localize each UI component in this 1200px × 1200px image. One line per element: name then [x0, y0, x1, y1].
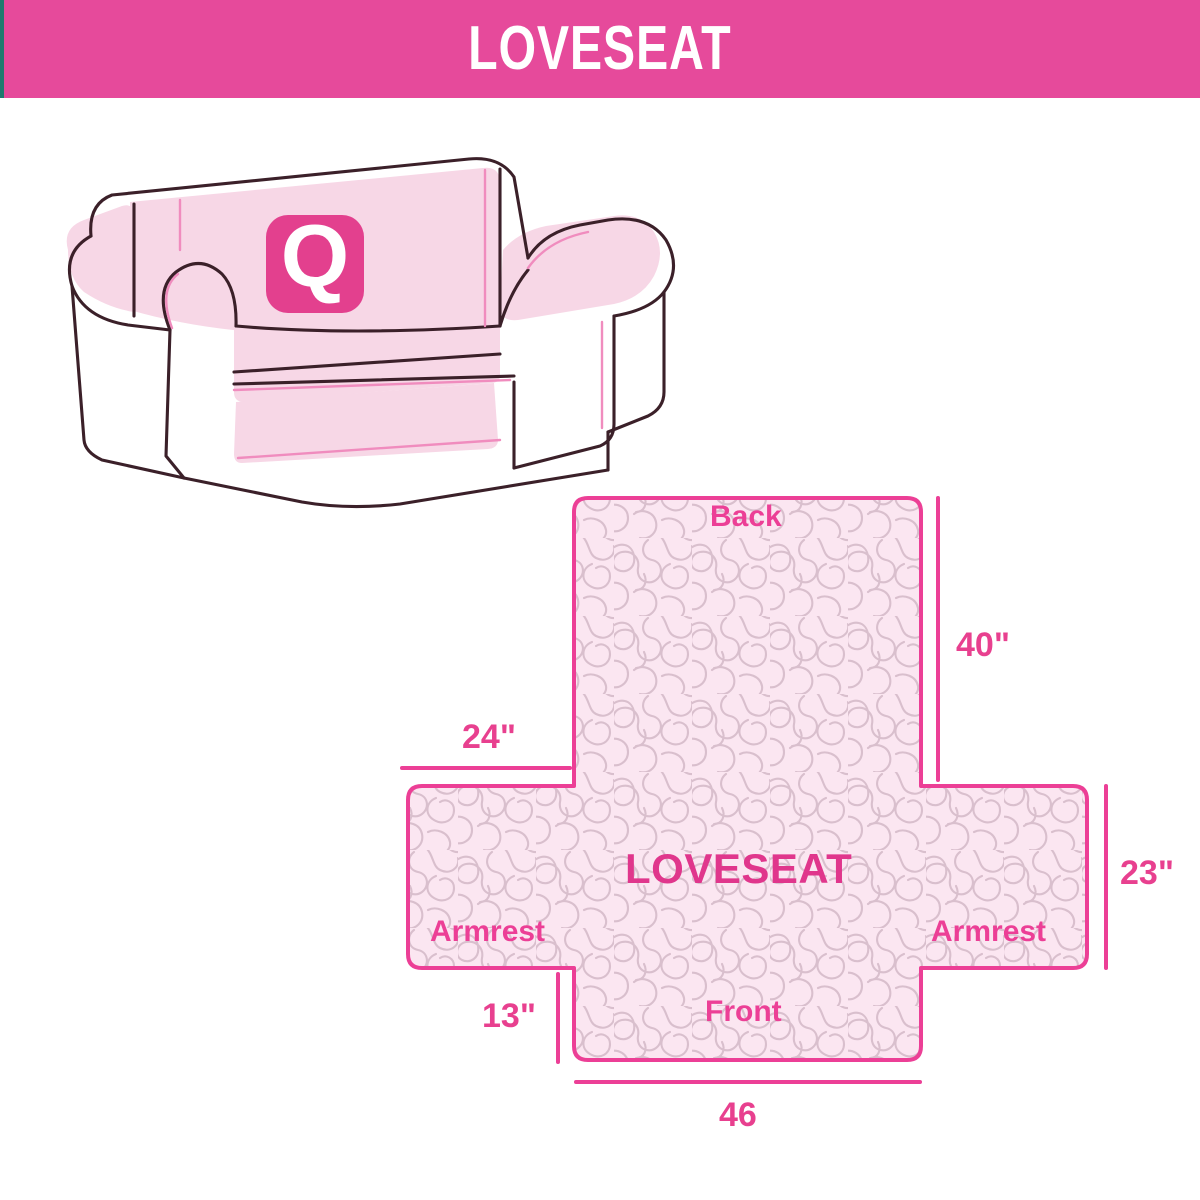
sofa-right-arm-front [514, 316, 614, 468]
pattern-label-front: Front [705, 995, 782, 1029]
dimension-value-armrest-span: 24" [462, 718, 516, 757]
dimension-value-back-height: 40" [956, 626, 1010, 665]
header-banner: LOVESEAT [0, 0, 1200, 98]
dimension-value-seat-depth: 23" [1120, 854, 1174, 893]
brand-logo-badge: Q [266, 206, 364, 313]
pattern-cross-shape [408, 498, 1087, 1060]
pattern-label-armrest-right: Armrest [931, 915, 1046, 949]
pattern-svg [380, 460, 1180, 1140]
dimension-value-front-width: 46 [719, 1096, 757, 1135]
loveseat-size-guide-page: LOVESEAT [0, 0, 1200, 1200]
sofa-left-arm-front [166, 330, 184, 478]
page-title: LOVESEAT [468, 18, 731, 80]
header-edge-strip [0, 0, 4, 98]
pattern-label-armrest-left: Armrest [430, 915, 545, 949]
brand-logo-letter: Q [281, 206, 349, 305]
sofa-right-arm-front-2 [608, 292, 664, 432]
pattern-label-center: LOVESEAT [625, 845, 852, 893]
flat-pattern-diagram: Back LOVESEAT Armrest Armrest Front 40" … [380, 460, 1180, 1140]
dimension-value-front-drop: 13" [482, 997, 536, 1036]
pattern-label-back: Back [710, 500, 782, 534]
